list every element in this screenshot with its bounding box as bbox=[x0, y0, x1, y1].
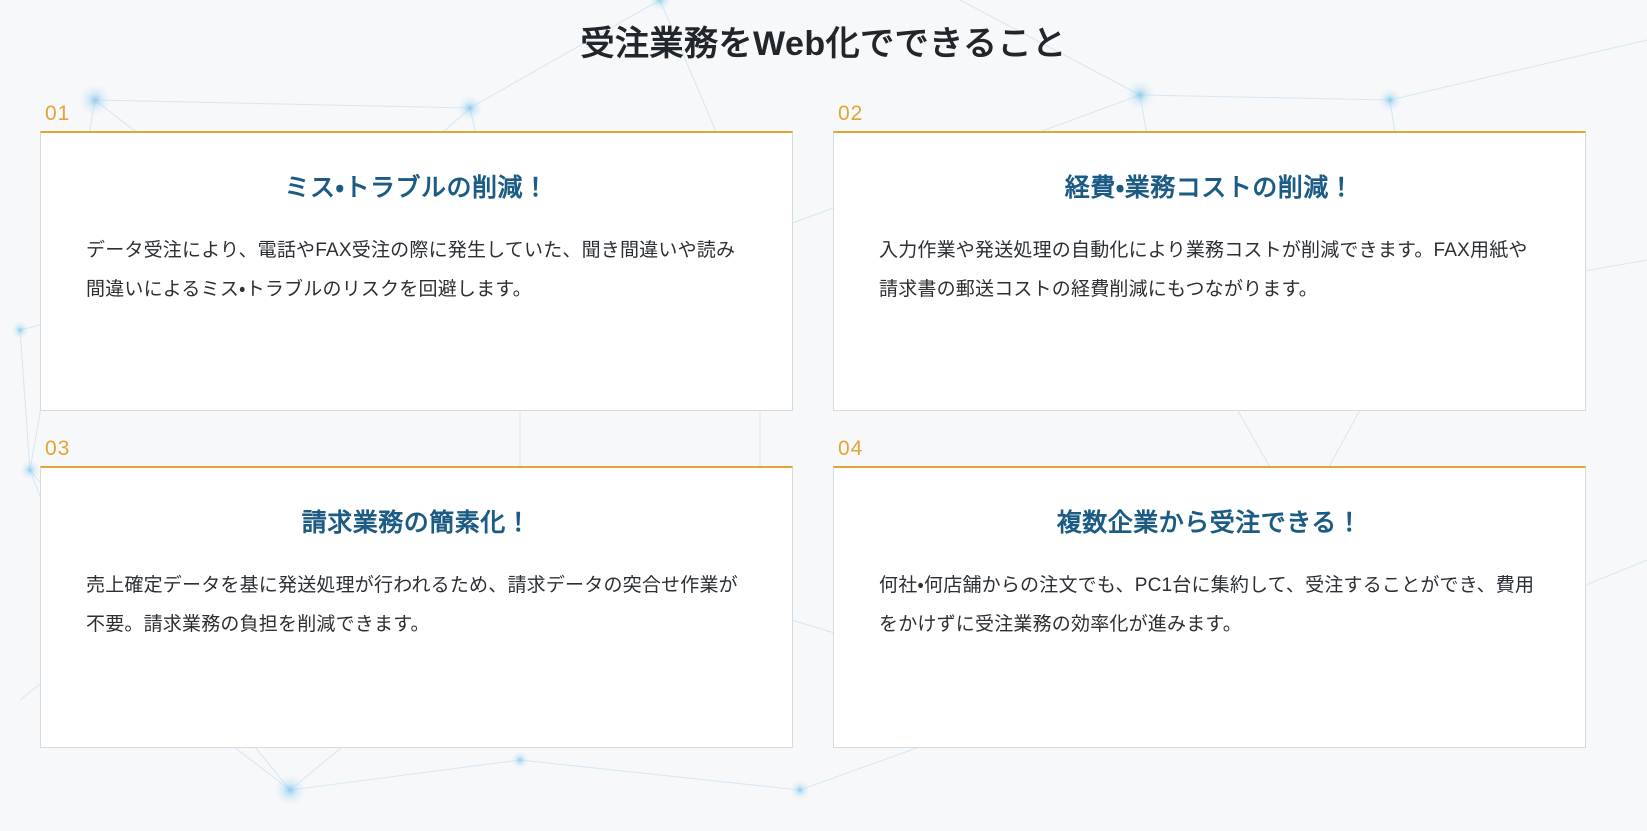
benefit-card-03: 03 請求業務の簡素化！ 売上確定データを基に発送処理が行われるため、請求データ… bbox=[40, 438, 793, 748]
card-heading: 請求業務の簡素化！ bbox=[86, 506, 747, 541]
card-body-panel: ミス・トラブルの削減！ データ受注により、電話やFAX受注の際に発生していた、聞… bbox=[40, 131, 793, 411]
benefits-section: 受注業務をWeb化でできること 01 ミス・トラブルの削減！ データ受注により、… bbox=[0, 0, 1647, 831]
card-description: 何社・何店舗からの注文でも、PC1台に集約して、受注することができ、費用をかけず… bbox=[879, 567, 1540, 645]
card-heading: 経費・業務コストの削減！ bbox=[879, 171, 1540, 206]
benefit-card-04: 04 複数企業から受注できる！ 何社・何店舗からの注文でも、PC1台に集約して、… bbox=[833, 438, 1586, 748]
benefit-card-01: 01 ミス・トラブルの削減！ データ受注により、電話やFAX受注の際に発生してい… bbox=[40, 103, 793, 411]
card-body-panel: 請求業務の簡素化！ 売上確定データを基に発送処理が行われるため、請求データの突合… bbox=[40, 466, 793, 748]
card-number-label: 04 bbox=[833, 438, 1586, 466]
card-description: 入力作業や発送処理の自動化により業務コストが削減できます。FAX用紙や請求書の郵… bbox=[879, 232, 1540, 310]
benefit-cards-grid: 01 ミス・トラブルの削減！ データ受注により、電話やFAX受注の際に発生してい… bbox=[40, 103, 1580, 748]
card-number-label: 01 bbox=[40, 103, 793, 131]
card-body-panel: 複数企業から受注できる！ 何社・何店舗からの注文でも、PC1台に集約して、受注す… bbox=[833, 466, 1586, 748]
card-number-label: 02 bbox=[833, 103, 1586, 131]
card-description: 売上確定データを基に発送処理が行われるため、請求データの突合せ作業が不要。請求業… bbox=[86, 567, 747, 645]
card-number-label: 03 bbox=[40, 438, 793, 466]
card-heading: ミス・トラブルの削減！ bbox=[86, 171, 747, 206]
benefit-card-02: 02 経費・業務コストの削減！ 入力作業や発送処理の自動化により業務コストが削減… bbox=[833, 103, 1586, 411]
card-heading: 複数企業から受注できる！ bbox=[879, 506, 1540, 541]
card-body-panel: 経費・業務コストの削減！ 入力作業や発送処理の自動化により業務コストが削減できま… bbox=[833, 131, 1586, 411]
card-description: データ受注により、電話やFAX受注の際に発生していた、聞き間違いや読み間違いによ… bbox=[86, 232, 747, 310]
page-title: 受注業務をWeb化でできること bbox=[0, 0, 1647, 66]
